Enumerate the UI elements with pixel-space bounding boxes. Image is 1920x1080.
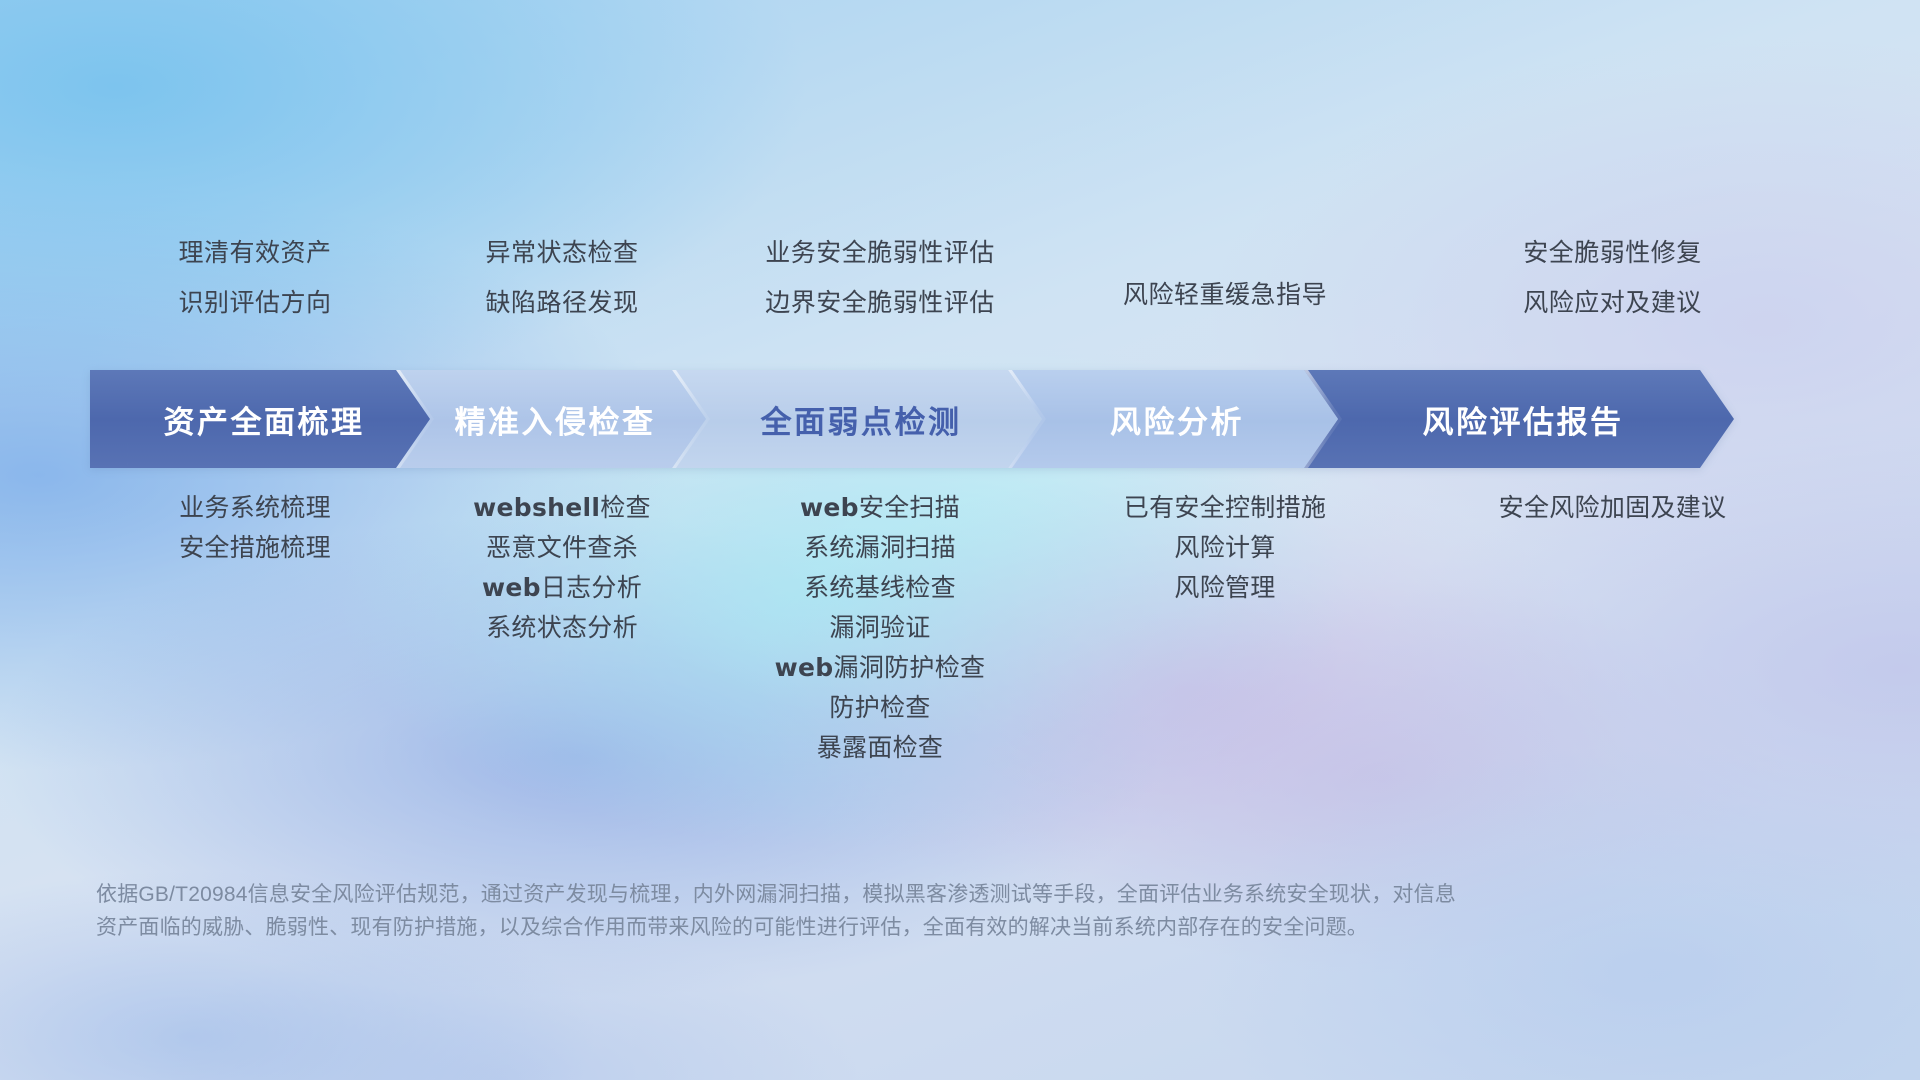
latin-token: webshell <box>473 493 600 522</box>
bottom-item-column: 已有安全控制措施风险计算风险管理 <box>1060 488 1390 608</box>
bottom-item-text: 恶意文件查杀 <box>486 528 638 568</box>
bottom-item-text: web安全扫描 <box>800 488 960 528</box>
process-diagram: 理清有效资产识别评估方向异常状态检查缺陷路径发现业务安全脆弱性评估边界安全脆弱性… <box>0 0 1920 1080</box>
top-caption-text: 安全脆弱性修复 <box>1523 228 1702 278</box>
bottom-item-row: 业务系统梳理安全措施梳理webshell检查恶意文件查杀web日志分析系统状态分… <box>0 488 1920 818</box>
bottom-item-column: 业务系统梳理安全措施梳理 <box>90 488 420 568</box>
stage-chevron-4[interactable]: 风险分析 <box>1008 370 1338 468</box>
bottom-item-text: 系统状态分析 <box>486 608 638 648</box>
top-caption-text: 识别评估方向 <box>178 278 331 328</box>
bottom-item-column: webshell检查恶意文件查杀web日志分析系统状态分析 <box>412 488 712 648</box>
stage-chevron-label: 风险分析 <box>1102 397 1244 442</box>
top-caption-text: 边界安全脆弱性评估 <box>765 278 995 328</box>
stage-chevron-1[interactable]: 资产全面梳理 <box>90 370 430 468</box>
stage-chevron-label: 全面弱点检测 <box>753 397 962 442</box>
latin-token: web <box>775 653 834 682</box>
top-caption-row: 理清有效资产识别评估方向异常状态检查缺陷路径发现业务安全脆弱性评估边界安全脆弱性… <box>0 228 1920 338</box>
top-caption-column: 安全脆弱性修复风险应对及建议 <box>1390 228 1835 328</box>
bottom-item-text: 安全措施梳理 <box>179 528 331 568</box>
bottom-item-text: 安全风险加固及建议 <box>1499 488 1727 528</box>
stage-chevron-label: 风险评估报告 <box>1415 397 1624 442</box>
bottom-item-text: web日志分析 <box>482 568 642 608</box>
top-caption-column: 异常状态检查缺陷路径发现 <box>412 228 712 328</box>
bottom-item-text: 风险计算 <box>1174 528 1275 568</box>
bottom-item-column: 安全风险加固及建议 <box>1390 488 1835 528</box>
top-caption-column: 业务安全脆弱性评估边界安全脆弱性评估 <box>700 228 1060 328</box>
bottom-item-text: webshell检查 <box>473 488 651 528</box>
footer-line-1: 依据GB/T20984信息安全风险评估规范，通过资产发现与梳理，内外网漏洞扫描，… <box>96 878 1596 911</box>
stage-chevron-label: 精准入侵检查 <box>447 397 656 442</box>
stage-chevron-label: 资产全面梳理 <box>156 397 365 442</box>
bottom-item-text: 系统漏洞扫描 <box>804 528 956 568</box>
stage-chevron-2[interactable]: 精准入侵检查 <box>396 370 706 468</box>
footer-description: 依据GB/T20984信息安全风险评估规范，通过资产发现与梳理，内外网漏洞扫描，… <box>96 878 1596 944</box>
bottom-item-text: 防护检查 <box>829 688 930 728</box>
stage-chevron-banner: 资产全面梳理精准入侵检查全面弱点检测风险分析风险评估报告 <box>90 370 1835 468</box>
bottom-item-text: 风险管理 <box>1174 568 1275 608</box>
top-caption-text: 风险轻重缓急指导 <box>1123 270 1327 320</box>
stage-chevron-3[interactable]: 全面弱点检测 <box>672 370 1042 468</box>
bottom-item-text: web漏洞防护检查 <box>775 648 986 688</box>
top-caption-column: 风险轻重缓急指导 <box>1060 270 1390 320</box>
bottom-item-text: 业务系统梳理 <box>179 488 331 528</box>
top-caption-text: 异常状态检查 <box>485 228 638 278</box>
top-caption-text: 风险应对及建议 <box>1523 278 1702 328</box>
stage-chevron-5[interactable]: 风险评估报告 <box>1304 370 1734 468</box>
top-caption-text: 缺陷路径发现 <box>485 278 638 328</box>
top-caption-text: 业务安全脆弱性评估 <box>765 228 995 278</box>
bottom-item-text: 漏洞验证 <box>829 608 930 648</box>
bottom-item-text: 暴露面检查 <box>817 728 944 768</box>
latin-token: web <box>482 573 541 602</box>
bottom-item-column: web安全扫描系统漏洞扫描系统基线检查漏洞验证web漏洞防护检查防护检查暴露面检… <box>700 488 1060 768</box>
top-caption-text: 理清有效资产 <box>178 228 331 278</box>
latin-token: web <box>800 493 859 522</box>
top-caption-column: 理清有效资产识别评估方向 <box>90 228 420 328</box>
bottom-item-text: 系统基线检查 <box>804 568 956 608</box>
bottom-item-text: 已有安全控制措施 <box>1124 488 1326 528</box>
footer-line-2: 资产面临的威胁、脆弱性、现有防护措施，以及综合作用而带来风险的可能性进行评估，全… <box>96 911 1596 944</box>
